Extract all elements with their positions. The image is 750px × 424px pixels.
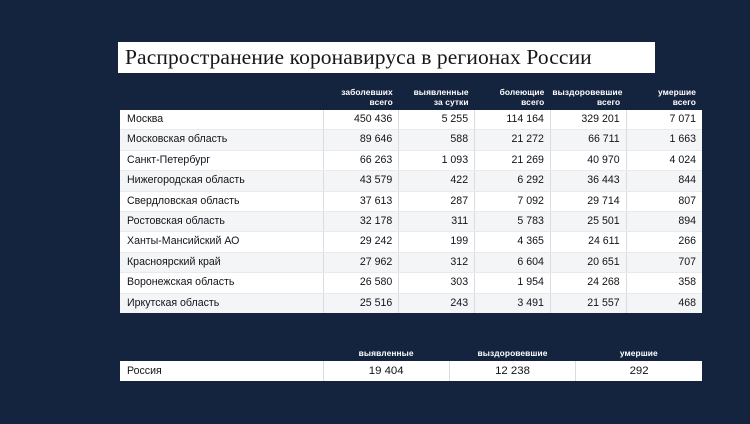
cell-total: 89 646 [323, 130, 399, 150]
cell-recovered: 66 711 [550, 130, 626, 150]
table-row: Ханты-Мансийский АО29 2421994 36524 6112… [120, 232, 702, 252]
column-header-deaths: умершие всего [626, 86, 702, 110]
table-row: Москва450 4365 255114 164329 2017 071 [120, 110, 702, 130]
regions-table-body: Москва450 4365 255114 164329 2017 071Мос… [120, 110, 702, 313]
cell-daily: 312 [399, 252, 475, 272]
cell-active: 114 164 [475, 110, 551, 130]
cell-deaths: 707 [626, 252, 702, 272]
cell-recovered: 20 651 [550, 252, 626, 272]
cell-deaths: 807 [626, 191, 702, 211]
cell-active: 21 269 [475, 150, 551, 170]
cell-daily: 5 255 [399, 110, 475, 130]
cell-active: 4 365 [475, 232, 551, 252]
column-header-recovered: выздоровевшие всего [550, 86, 626, 110]
cell-active: 7 092 [475, 191, 551, 211]
cell-active: 6 604 [475, 252, 551, 272]
cell-recovered: 329 201 [550, 110, 626, 130]
summary-column-header-recovered: выздоровевшие [449, 342, 575, 361]
table-row: Санкт-Петербург66 2631 09321 26940 9704 … [120, 150, 702, 170]
column-header-daily: выявленные за сутки [399, 86, 475, 110]
column-header-total: заболевших всего [323, 86, 399, 110]
cell-recovered: 25 501 [550, 212, 626, 232]
cell-region: Нижегородская область [120, 171, 323, 191]
cell-deaths: 358 [626, 273, 702, 293]
cell-region: Ростовская область [120, 212, 323, 232]
cell-total: 27 962 [323, 252, 399, 272]
cell-deaths: 1 663 [626, 130, 702, 150]
summary-cell-deaths: 292 [576, 361, 702, 381]
cell-daily: 287 [399, 191, 475, 211]
summary-table-header: выявленные выздоровевшие умершие [120, 342, 702, 361]
cell-recovered: 21 557 [550, 293, 626, 313]
cell-daily: 303 [399, 273, 475, 293]
column-header-active: болеющие всего [475, 86, 551, 110]
table-row: Ростовская область32 1783115 78325 50189… [120, 212, 702, 232]
cell-deaths: 844 [626, 171, 702, 191]
cell-deaths: 266 [626, 232, 702, 252]
cell-deaths: 7 071 [626, 110, 702, 130]
summary-header-row: выявленные выздоровевшие умершие [120, 342, 702, 361]
cell-total: 26 580 [323, 273, 399, 293]
cell-active: 5 783 [475, 212, 551, 232]
cell-region: Москва [120, 110, 323, 130]
regions-table: заболевших всего выявленные за сутки бол… [120, 86, 702, 313]
cell-active: 1 954 [475, 273, 551, 293]
cell-deaths: 468 [626, 293, 702, 313]
table-row: Воронежская область26 5803031 95424 2683… [120, 273, 702, 293]
table-row: Красноярский край27 9623126 60420 651707 [120, 252, 702, 272]
cell-daily: 243 [399, 293, 475, 313]
cell-active: 6 292 [475, 171, 551, 191]
cell-region: Московская область [120, 130, 323, 150]
cell-recovered: 40 970 [550, 150, 626, 170]
table-row: Нижегородская область43 5794226 29236 44… [120, 171, 702, 191]
cell-daily: 422 [399, 171, 475, 191]
summary-column-header-deaths: умершие [576, 342, 702, 361]
cell-deaths: 894 [626, 212, 702, 232]
column-header-region [120, 86, 323, 110]
summary-table-body: Россия 19 404 12 238 292 [120, 361, 702, 381]
cell-region: Санкт-Петербург [120, 150, 323, 170]
summary-cell-region: Россия [120, 361, 323, 381]
country-summary-table: выявленные выздоровевшие умершие Россия … [120, 342, 702, 381]
cell-total: 66 263 [323, 150, 399, 170]
cell-total: 25 516 [323, 293, 399, 313]
cell-daily: 1 093 [399, 150, 475, 170]
summary-column-header-daily: выявленные [323, 342, 449, 361]
cell-recovered: 29 714 [550, 191, 626, 211]
table-row: Московская область89 64658821 27266 7111… [120, 130, 702, 150]
cell-region: Иркутская область [120, 293, 323, 313]
cell-region: Воронежская область [120, 273, 323, 293]
cell-region: Красноярский край [120, 252, 323, 272]
page-title-box: Распространение коронавируса в регионах … [118, 42, 655, 73]
table-header-row: заболевших всего выявленные за сутки бол… [120, 86, 702, 110]
cell-recovered: 24 611 [550, 232, 626, 252]
cell-daily: 588 [399, 130, 475, 150]
cell-total: 450 436 [323, 110, 399, 130]
cell-daily: 311 [399, 212, 475, 232]
page-title: Распространение коронавируса в регионах … [125, 45, 592, 70]
cell-total: 43 579 [323, 171, 399, 191]
cell-daily: 199 [399, 232, 475, 252]
regions-table-header: заболевших всего выявленные за сутки бол… [120, 86, 702, 110]
summary-cell-daily: 19 404 [323, 361, 449, 381]
table-row: Свердловская область37 6132877 09229 714… [120, 191, 702, 211]
cell-recovered: 36 443 [550, 171, 626, 191]
table-row: Иркутская область25 5162433 49121 557468 [120, 293, 702, 313]
cell-active: 3 491 [475, 293, 551, 313]
cell-active: 21 272 [475, 130, 551, 150]
cell-total: 29 242 [323, 232, 399, 252]
cell-recovered: 24 268 [550, 273, 626, 293]
cell-total: 37 613 [323, 191, 399, 211]
table-row: Россия 19 404 12 238 292 [120, 361, 702, 381]
cell-deaths: 4 024 [626, 150, 702, 170]
summary-column-header-region [120, 342, 323, 361]
summary-cell-recovered: 12 238 [449, 361, 575, 381]
cell-region: Свердловская область [120, 191, 323, 211]
cell-region: Ханты-Мансийский АО [120, 232, 323, 252]
cell-total: 32 178 [323, 212, 399, 232]
